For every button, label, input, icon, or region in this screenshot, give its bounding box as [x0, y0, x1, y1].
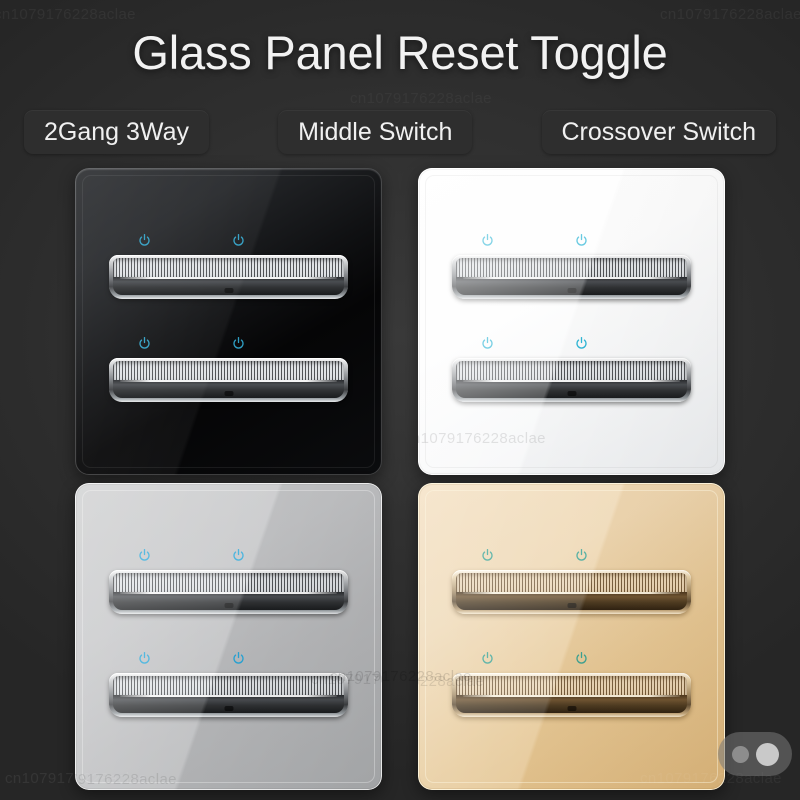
- rocker-notch: [567, 603, 576, 608]
- tab-label: 2Gang 3Way: [44, 118, 189, 147]
- product-gallery-image: cn1079176228aclae cn1079176228aclae cn10…: [0, 0, 800, 800]
- page-indicator-pill[interactable]: [718, 732, 792, 776]
- power-led-icon: [137, 233, 152, 248]
- page-title: Glass Panel Reset Toggle: [0, 26, 800, 81]
- rocker-well: [456, 258, 687, 295]
- rocker-bar[interactable]: [452, 358, 691, 402]
- tab-middle-switch[interactable]: Middle Switch: [278, 110, 472, 154]
- power-led-icon: [231, 233, 246, 248]
- led-row-bottom: [109, 651, 348, 667]
- rocker-highlight: [120, 277, 337, 279]
- rocker-highlight: [463, 592, 680, 594]
- rocker-ribbing: [113, 573, 344, 592]
- rocker-bar[interactable]: [109, 358, 348, 402]
- rocker-well: [113, 676, 344, 713]
- led-row-top: [109, 233, 348, 249]
- rocker-switch-gang-2[interactable]: [109, 673, 348, 717]
- rocker-ribbing: [113, 258, 344, 277]
- rocker-switch-gang-2[interactable]: [109, 358, 348, 402]
- power-led-icon: [137, 548, 152, 563]
- panel-face: [418, 483, 725, 790]
- tab-label: Crossover Switch: [562, 118, 757, 147]
- rocker-switch-gang-2[interactable]: [452, 673, 691, 717]
- rocker-bar[interactable]: [109, 570, 348, 614]
- glass-panel[interactable]: cn1079176228aclae: [418, 483, 725, 790]
- panel-face: [418, 168, 725, 475]
- power-led-icon: [231, 651, 246, 666]
- led-row-top: [452, 233, 691, 249]
- rocker-bar[interactable]: [109, 255, 348, 299]
- power-led-icon: [480, 233, 495, 248]
- power-led-icon: [137, 651, 152, 666]
- rocker-highlight: [120, 695, 337, 697]
- power-led-icon: [231, 548, 246, 563]
- led-row-bottom: [452, 651, 691, 667]
- panel-variant-black[interactable]: [75, 168, 382, 475]
- rocker-bar[interactable]: [109, 673, 348, 717]
- rocker-notch: [224, 288, 233, 293]
- rocker-bar[interactable]: [452, 255, 691, 299]
- panel-variant-gold[interactable]: cn1079176228aclae: [418, 483, 725, 790]
- rocker-well: [113, 361, 344, 398]
- rocker-well: [113, 258, 344, 295]
- power-led-icon: [574, 651, 589, 666]
- power-led-icon: [231, 336, 246, 351]
- power-led-icon: [137, 336, 152, 351]
- rocker-well: [456, 676, 687, 713]
- led-row-bottom: [452, 336, 691, 352]
- watermark: cn1079176228aclae: [660, 6, 800, 23]
- rocker-bar[interactable]: [452, 673, 691, 717]
- rocker-notch: [567, 288, 576, 293]
- rocker-switch-gang-1[interactable]: [452, 255, 691, 299]
- glass-panel[interactable]: [75, 168, 382, 475]
- rocker-switch-gang-2[interactable]: [452, 358, 691, 402]
- rocker-ribbing: [456, 676, 687, 695]
- rocker-notch: [224, 391, 233, 396]
- led-row-top: [452, 548, 691, 564]
- glass-panel[interactable]: cn1079176228aclae: [418, 168, 725, 475]
- rocker-switch-gang-1[interactable]: [109, 570, 348, 614]
- power-led-icon: [480, 651, 495, 666]
- rocker-ribbing: [456, 573, 687, 592]
- rocker-notch: [567, 706, 576, 711]
- rocker-ribbing: [456, 258, 687, 277]
- rocker-switch-gang-1[interactable]: [109, 255, 348, 299]
- power-led-icon: [480, 548, 495, 563]
- panel-face: [75, 483, 382, 790]
- panel-variant-white[interactable]: cn1079176228aclae: [418, 168, 725, 475]
- rocker-highlight: [120, 380, 337, 382]
- watermark: cn1079176228aclae: [0, 6, 136, 23]
- rocker-highlight: [463, 277, 680, 279]
- rocker-ribbing: [456, 361, 687, 380]
- watermark: cn1079176228aclae: [350, 90, 492, 107]
- tab-label: Middle Switch: [298, 118, 452, 147]
- rocker-well: [456, 573, 687, 610]
- power-led-icon: [480, 336, 495, 351]
- power-led-icon: [574, 548, 589, 563]
- led-row-top: [109, 548, 348, 564]
- rocker-highlight: [120, 592, 337, 594]
- rocker-ribbing: [113, 676, 344, 695]
- page-indicator-dot-1[interactable]: [732, 746, 749, 763]
- tab-2gang-3way[interactable]: 2Gang 3Way: [24, 110, 209, 154]
- power-led-icon: [574, 336, 589, 351]
- rocker-notch: [224, 706, 233, 711]
- rocker-highlight: [463, 380, 680, 382]
- rocker-bar[interactable]: [452, 570, 691, 614]
- rocker-well: [456, 361, 687, 398]
- glass-panel[interactable]: cn1079176228aclae cn1079176228aclae: [75, 483, 382, 790]
- page-indicator-dot-2[interactable]: [756, 743, 779, 766]
- rocker-well: [113, 573, 344, 610]
- panel-variant-grid: cn1079176228aclae: [75, 168, 725, 796]
- rocker-ribbing: [113, 361, 344, 380]
- rocker-highlight: [463, 695, 680, 697]
- panel-variant-grey[interactable]: cn1079176228aclae cn1079176228aclae: [75, 483, 382, 790]
- power-led-icon: [574, 233, 589, 248]
- led-row-bottom: [109, 336, 348, 352]
- rocker-notch: [567, 391, 576, 396]
- rocker-notch: [224, 603, 233, 608]
- tab-crossover-switch[interactable]: Crossover Switch: [542, 110, 777, 154]
- variant-tab-bar: 2Gang 3Way Middle Switch Crossover Switc…: [24, 110, 776, 154]
- panel-face: [75, 168, 382, 475]
- rocker-switch-gang-1[interactable]: [452, 570, 691, 614]
